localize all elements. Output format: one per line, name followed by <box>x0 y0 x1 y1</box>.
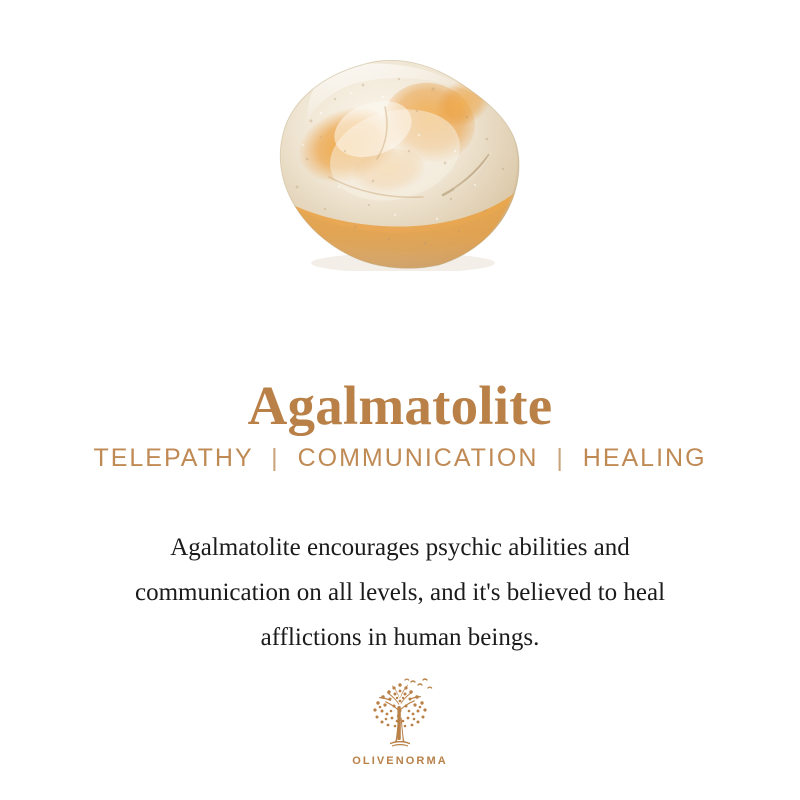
description-line: afflictions in human beings. <box>50 615 750 660</box>
brand-logo: OLIVENORMA <box>0 676 800 767</box>
product-card: Agalmatolite TELEPATHY | COMMUNICATION |… <box>0 0 800 800</box>
keyword-separator: | <box>547 444 574 473</box>
description-line: Agalmatolite encourages psychic abilitie… <box>50 525 750 570</box>
agalmatolite-stone-illustration <box>277 59 523 271</box>
birds <box>405 679 432 688</box>
description-text: Agalmatolite encourages psychic abilitie… <box>50 525 750 660</box>
keyword-list: TELEPATHY | COMMUNICATION | HEALING <box>0 444 800 473</box>
keyword-telepathy: TELEPATHY <box>93 444 253 472</box>
page-title: Agalmatolite <box>0 375 800 437</box>
stone-image <box>0 52 800 277</box>
stone-body <box>277 59 523 271</box>
tree-of-life-icon <box>361 676 439 752</box>
keyword-healing: HEALING <box>583 444 707 472</box>
keyword-communication: COMMUNICATION <box>298 444 539 472</box>
keyword-separator: | <box>262 444 289 473</box>
brand-wordmark: OLIVENORMA <box>352 755 448 767</box>
description-line: communication on all levels, and it's be… <box>50 570 750 615</box>
